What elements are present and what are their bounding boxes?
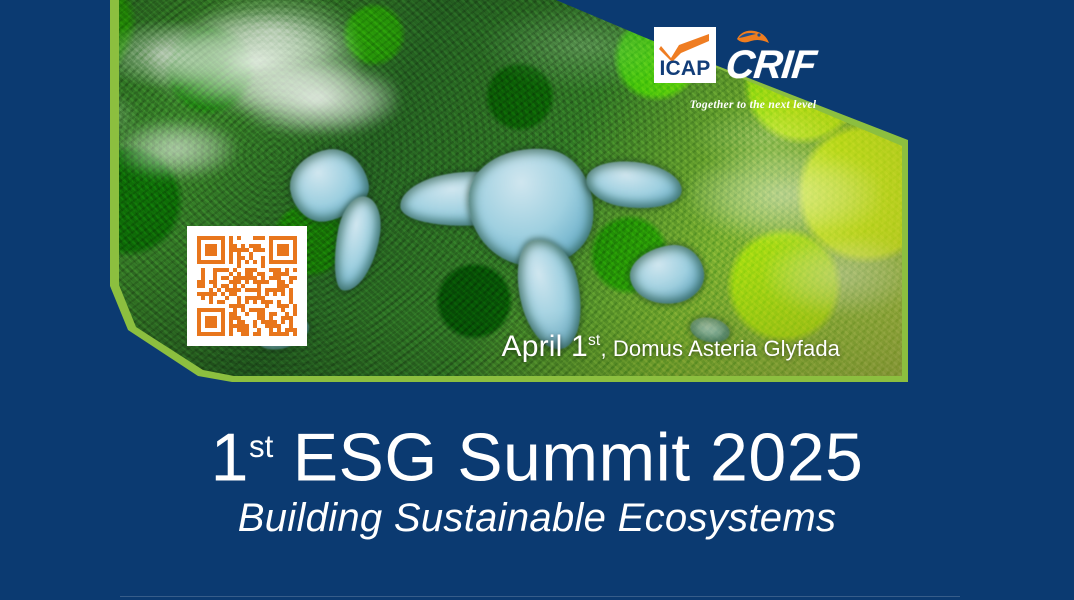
event-venue-name: Domus Asteria Glyfada bbox=[613, 336, 840, 361]
page-title: 1st ESG Summit 2025 bbox=[0, 408, 1074, 497]
qr-code-matrix bbox=[197, 236, 297, 336]
brand-logo-lockup: ICAP CRIF Together to the next level bbox=[654, 27, 846, 117]
title-ordinal-number: 1 bbox=[211, 420, 249, 496]
footer-divider bbox=[120, 596, 960, 597]
qr-code[interactable] bbox=[187, 226, 307, 346]
event-date-ordinal: st bbox=[588, 332, 601, 349]
event-date-venue: April 1st, Domus Asteria Glyfada bbox=[300, 330, 840, 370]
event-poster: ICAP CRIF Together to the next level Apr… bbox=[0, 0, 1074, 600]
event-venue-separator: , bbox=[600, 336, 612, 361]
crif-wordmark: CRIF bbox=[724, 43, 818, 87]
title-ordinal-suffix: st bbox=[249, 429, 273, 464]
logo-tagline: Together to the next level bbox=[658, 99, 848, 111]
page-subtitle: Building Sustainable Ecosystems bbox=[0, 494, 1074, 542]
title-main-text: ESG Summit 2025 bbox=[273, 420, 863, 496]
icap-wordmark: ICAP bbox=[654, 57, 716, 81]
icap-logo-badge: ICAP bbox=[654, 27, 716, 83]
event-date-number: April 1 bbox=[502, 330, 588, 363]
event-date: April 1st bbox=[502, 330, 601, 363]
crif-logo: CRIF bbox=[726, 29, 846, 87]
